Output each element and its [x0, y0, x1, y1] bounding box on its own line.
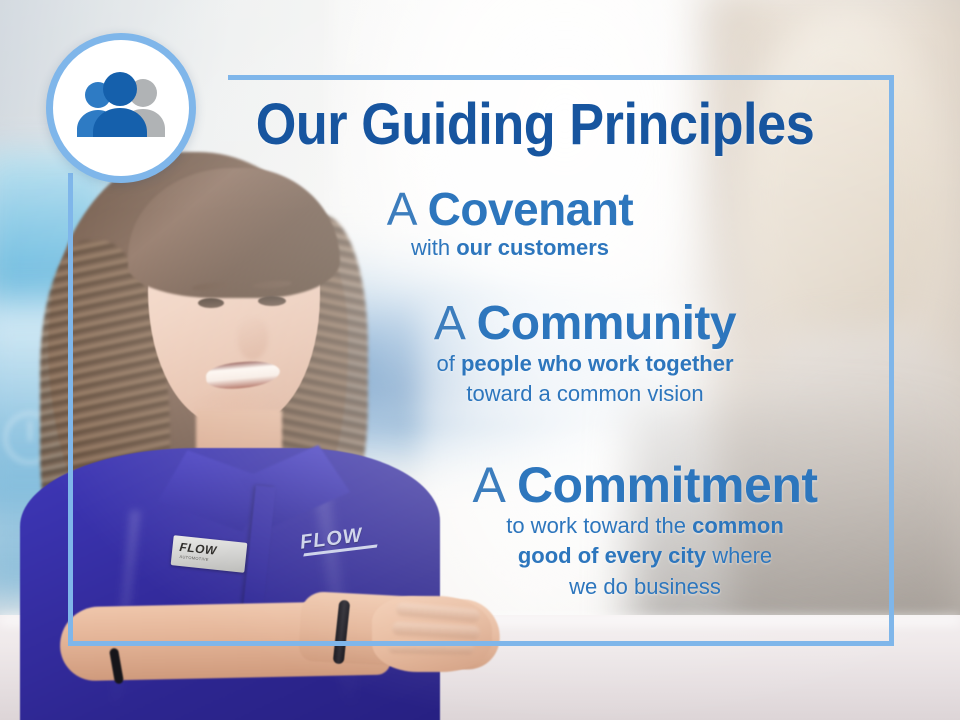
- principle-community-line-2: toward a common vision: [355, 379, 815, 409]
- principle-covenant-keyword: Covenant: [428, 183, 634, 235]
- principle-commitment: A Commitment to work toward the common g…: [415, 460, 875, 602]
- principle-commitment-keyword: Commitment: [517, 457, 818, 513]
- commitment-l1-s2: common: [692, 513, 784, 538]
- principle-community-article: A: [434, 297, 477, 350]
- covenant-l1-s1: with: [411, 235, 456, 260]
- principle-commitment-line-2: good of every city where: [415, 541, 875, 571]
- commitment-l1-s1: to work toward the: [506, 513, 692, 538]
- principle-community-line-1: of people who work together: [355, 349, 815, 379]
- principle-commitment-heading: A Commitment: [415, 460, 875, 511]
- principle-commitment-article: A: [472, 457, 516, 513]
- covenant-l1-s2: our customers: [456, 235, 609, 260]
- principle-covenant: A Covenant with our customers: [300, 186, 720, 263]
- finger-3: [388, 641, 474, 654]
- community-l2-s1: toward a common vision: [466, 381, 703, 406]
- guiding-principles-poster: FLOW AUTOMOTIVE FLOW: [0, 0, 960, 720]
- eye-left: [198, 298, 224, 308]
- principle-covenant-heading: A Covenant: [300, 186, 720, 233]
- principle-community-keyword: Community: [477, 297, 737, 350]
- community-l1-s2: people who work together: [461, 351, 734, 376]
- principle-community: A Community of people who work together …: [355, 300, 815, 408]
- principle-commitment-line-3: we do business: [415, 572, 875, 602]
- commitment-l2-s1: good of every city: [518, 543, 706, 568]
- people-group-icon: [69, 71, 173, 145]
- page-title: Our Guiding Principles: [238, 96, 832, 154]
- principle-covenant-line-1: with our customers: [300, 233, 720, 263]
- commitment-l2-s2: where: [706, 543, 772, 568]
- principle-community-heading: A Community: [355, 300, 815, 349]
- commitment-l3-s1: we do business: [569, 574, 721, 599]
- community-l1-s1: of: [436, 351, 460, 376]
- eye-right: [258, 296, 286, 306]
- principle-covenant-article: A: [387, 183, 428, 235]
- people-group-icon-badge: [46, 33, 196, 183]
- principle-commitment-line-1: to work toward the common: [415, 511, 875, 541]
